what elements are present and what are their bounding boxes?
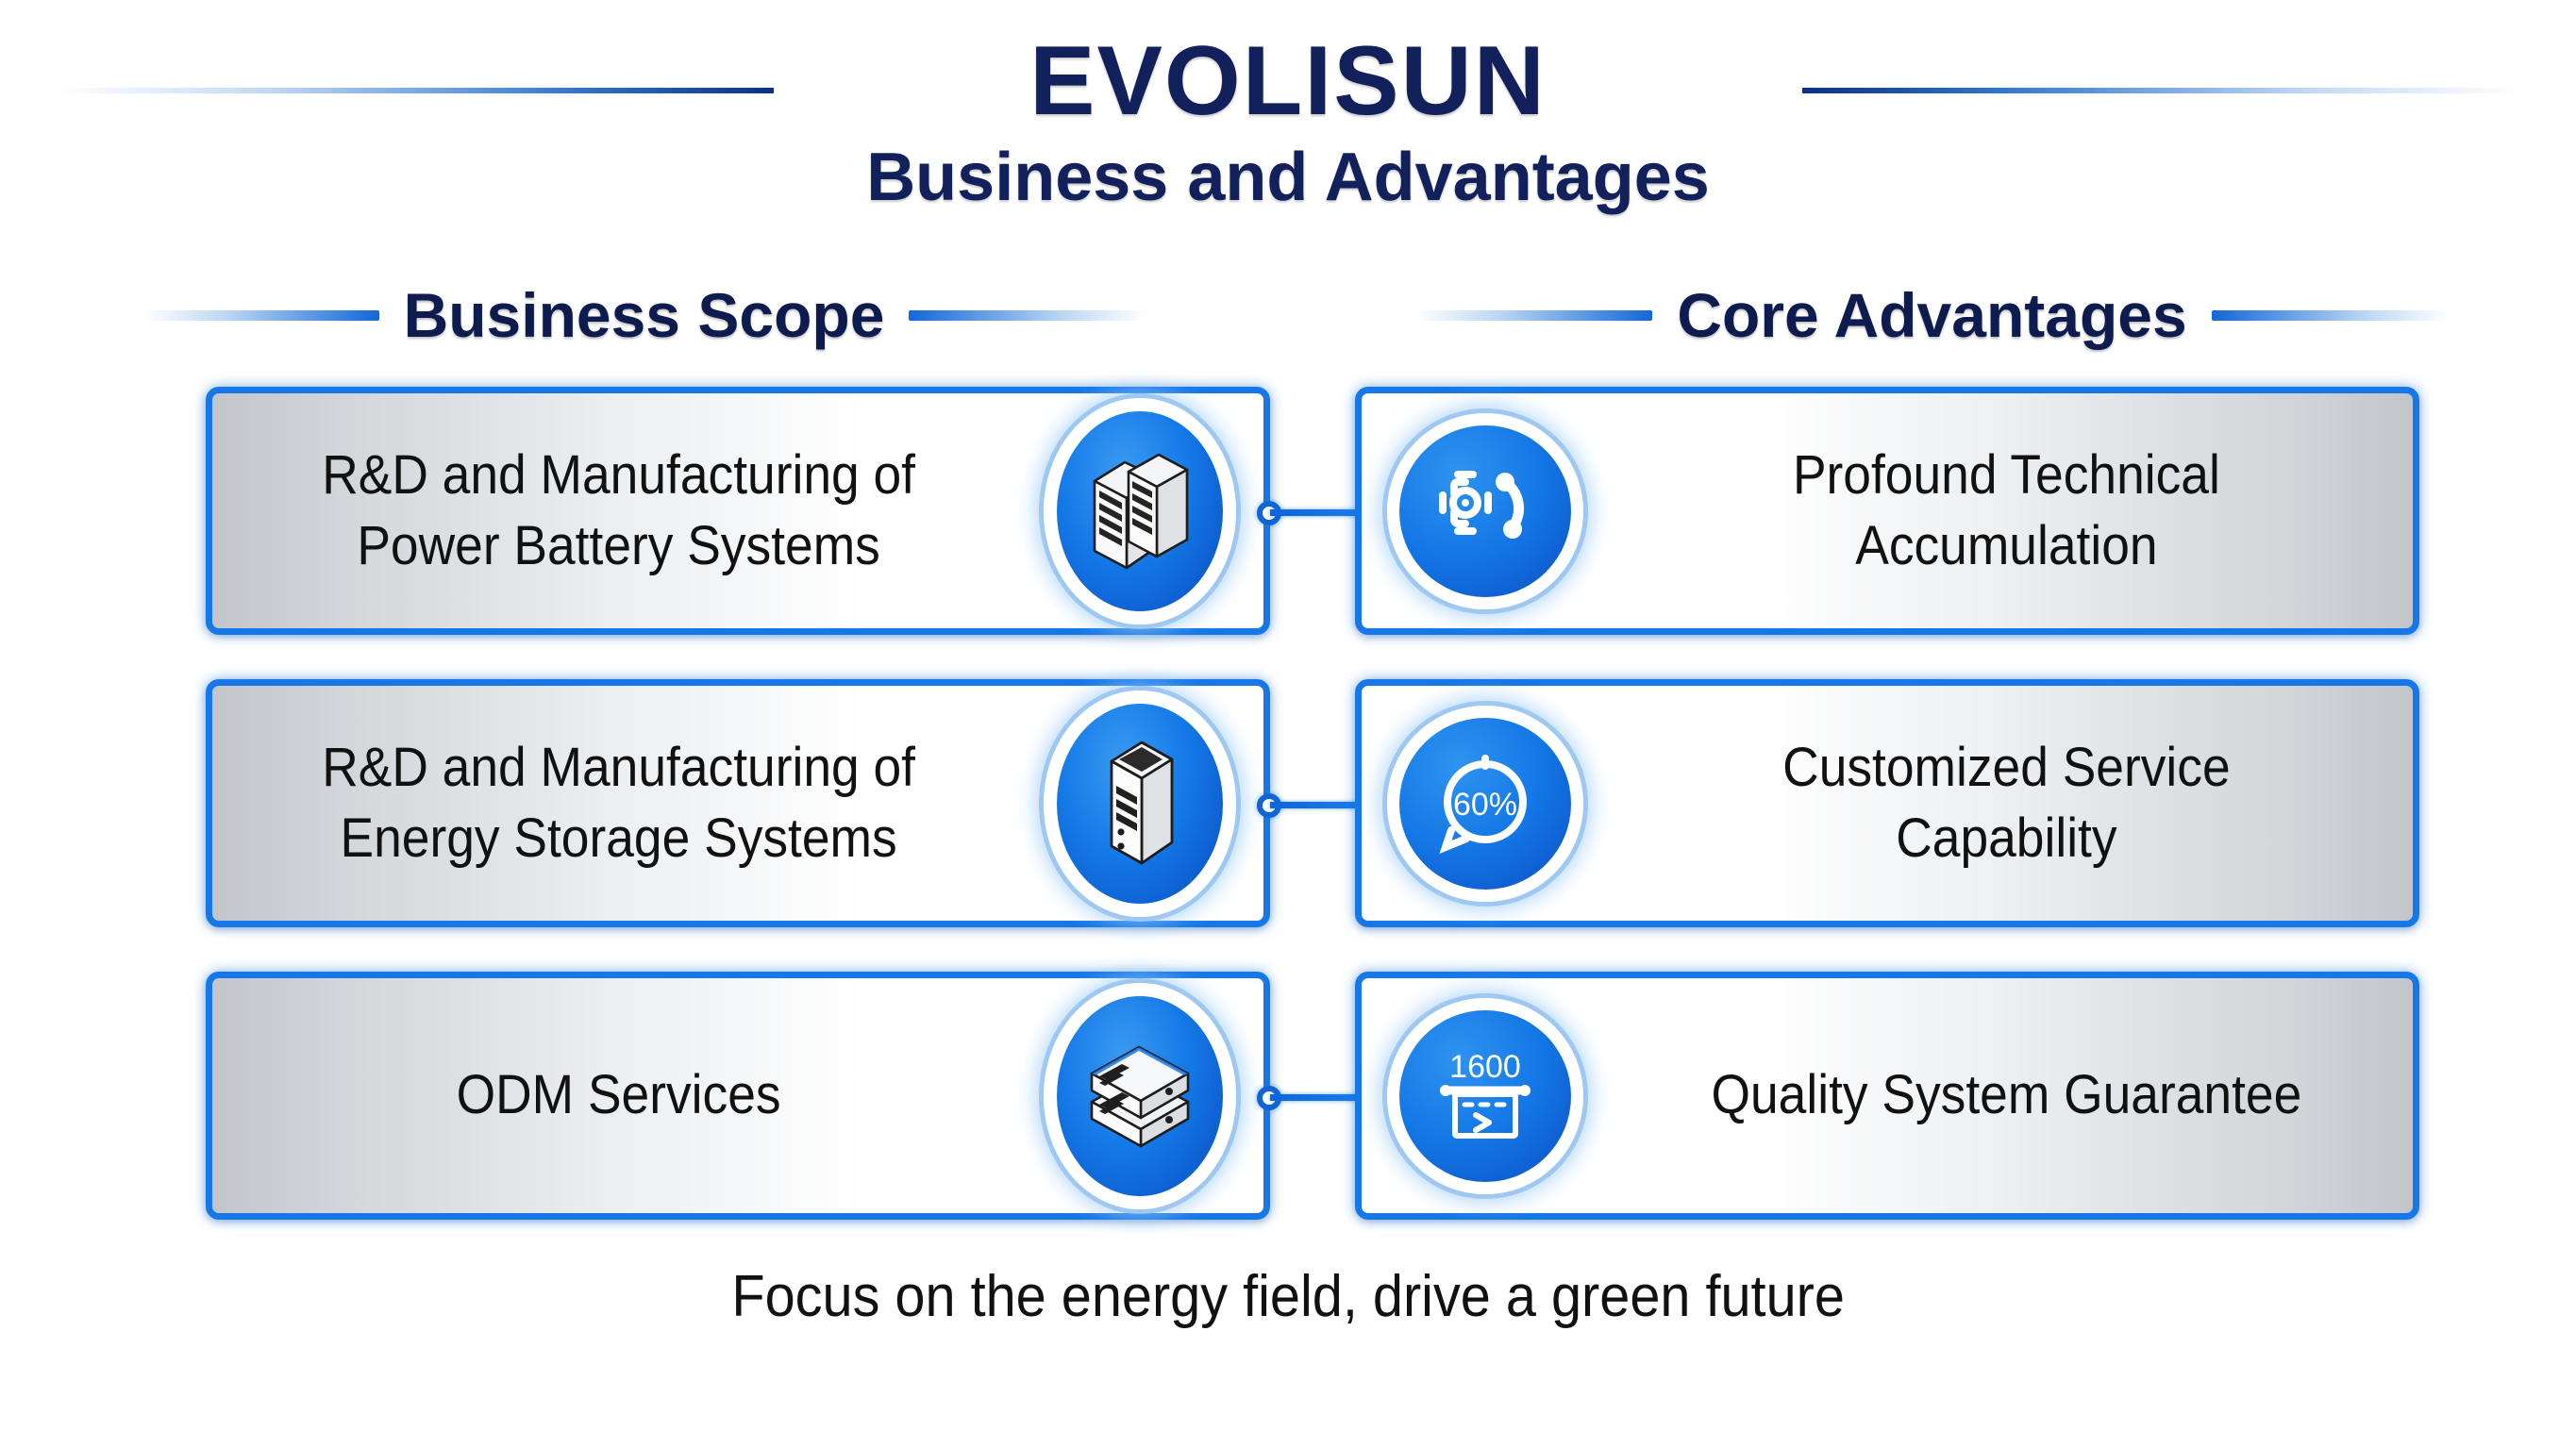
core-advantage-card-3-icon-slot: 1600 [1362, 1010, 1609, 1182]
icon-badge-inner: 60% [1399, 718, 1571, 890]
icon-badge-inner [1057, 996, 1223, 1196]
heading-business-scope: Business Scope [0, 279, 1288, 351]
core-advantage-card-1[interactable]: Profound Technical Accumulation [1355, 387, 2419, 635]
screen-banner-icon: 1600 [1427, 1038, 1544, 1155]
icon-badge [1057, 704, 1223, 904]
icon-badge: 60% [1399, 718, 1571, 890]
icon-badge-inner [1057, 704, 1223, 904]
card-row: R&D and Manufacturing of Power Battery S… [0, 387, 2576, 679]
heading-dash-left-icon [143, 310, 379, 321]
card-rows: R&D and Manufacturing of Power Battery S… [0, 387, 2576, 1264]
heading-core-advantages: Core Advantages [1288, 279, 2576, 351]
page-subtitle: Business and Advantages [0, 138, 2576, 218]
icon-value-text: 1600 [1449, 1049, 1521, 1085]
business-scope-card-1-label: R&D and Manufacturing of Power Battery S… [244, 441, 984, 580]
core-advantage-card-1-label: Profound Technical Accumulation [1641, 441, 2381, 580]
core-advantage-card-1-icon-slot [1362, 425, 1609, 597]
heading-business-scope-label: Business Scope [404, 279, 885, 351]
icon-badge-inner [1399, 425, 1571, 597]
core-advantage-card-3[interactable]: 1600 [1355, 972, 2419, 1220]
server-rack-icon [1087, 449, 1193, 574]
business-scope-card-1-icon-slot [1016, 411, 1263, 611]
core-advantage-card-2-label: Customized Service Capability [1641, 733, 2381, 873]
icon-badge: 1600 [1399, 1010, 1571, 1182]
business-scope-card-3-icon-slot [1016, 996, 1263, 1196]
header: EVOLISUN Business and Advantages [0, 28, 2576, 218]
card-row: R&D and Manufacturing of Energy Storage … [0, 679, 2576, 972]
column-headings: Business Scope Core Advantages [0, 279, 2576, 351]
icon-badge [1057, 411, 1223, 611]
speech-bubble-percent-icon: 60% [1429, 747, 1542, 860]
icon-badge [1057, 996, 1223, 1196]
icon-value-text: 60% [1453, 787, 1517, 823]
core-advantage-card-3-label: Quality System Guarantee [1641, 1060, 2381, 1130]
infographic-page: EVOLISUN Business and Advantages Busines… [0, 0, 2576, 1448]
business-scope-card-2[interactable]: R&D and Manufacturing of Energy Storage … [206, 679, 1270, 927]
stacked-server-icon [1079, 1036, 1201, 1157]
business-scope-card-3-label: ODM Services [244, 1060, 984, 1130]
heading-dash-right-icon [909, 310, 1145, 321]
icon-badge-inner [1057, 411, 1223, 611]
core-advantage-card-2-icon-slot: 60% [1362, 718, 1609, 890]
storage-tower-icon [1096, 737, 1183, 871]
icon-badge [1399, 425, 1571, 597]
heading-core-advantages-label: Core Advantages [1677, 279, 2186, 351]
core-advantage-card-2[interactable]: 60% Customized Service Capability [1355, 679, 2419, 927]
brand-title: EVOLISUN [0, 28, 2576, 134]
icon-badge-inner: 1600 [1399, 1010, 1571, 1182]
business-scope-card-2-label: R&D and Manufacturing of Energy Storage … [244, 733, 984, 873]
network-hub-icon [1430, 456, 1541, 567]
footer-tagline-text: Focus on the energy field, drive a green… [731, 1263, 1845, 1330]
heading-dash-left-icon [1416, 310, 1652, 321]
business-scope-card-2-icon-slot [1016, 704, 1263, 904]
business-scope-card-3[interactable]: ODM Services [206, 972, 1270, 1220]
footer-tagline: Focus on the energy field, drive a green… [0, 1263, 2576, 1330]
business-scope-card-1[interactable]: R&D and Manufacturing of Power Battery S… [206, 387, 1270, 635]
heading-dash-right-icon [2212, 310, 2448, 321]
card-row: ODM Services [0, 972, 2576, 1264]
